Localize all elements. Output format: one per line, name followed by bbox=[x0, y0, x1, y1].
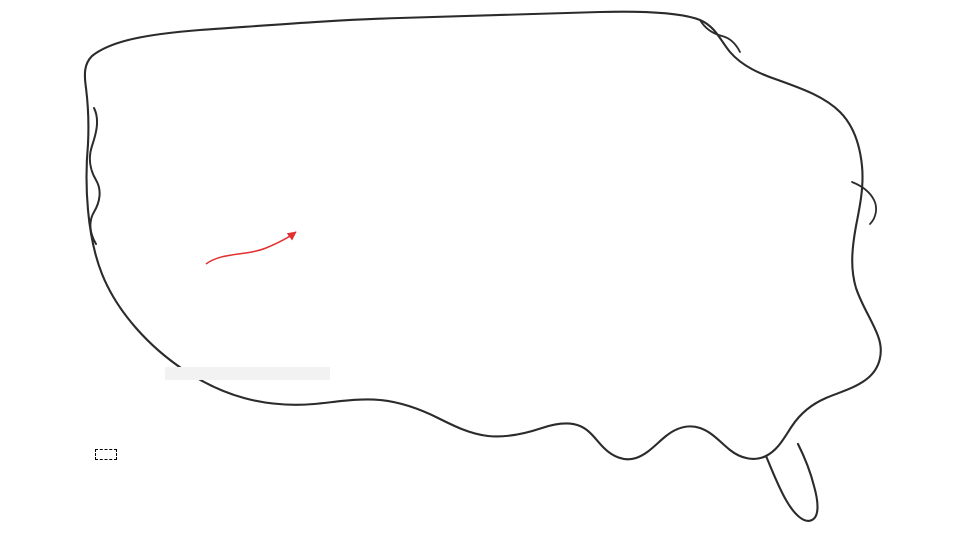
us-map-outline bbox=[0, 0, 960, 540]
leaseholder-dashed-swatch bbox=[95, 449, 117, 460]
sql-insert-statement bbox=[165, 367, 330, 380]
diagram-canvas bbox=[0, 0, 960, 540]
leaseholder-legend-key bbox=[95, 449, 123, 460]
